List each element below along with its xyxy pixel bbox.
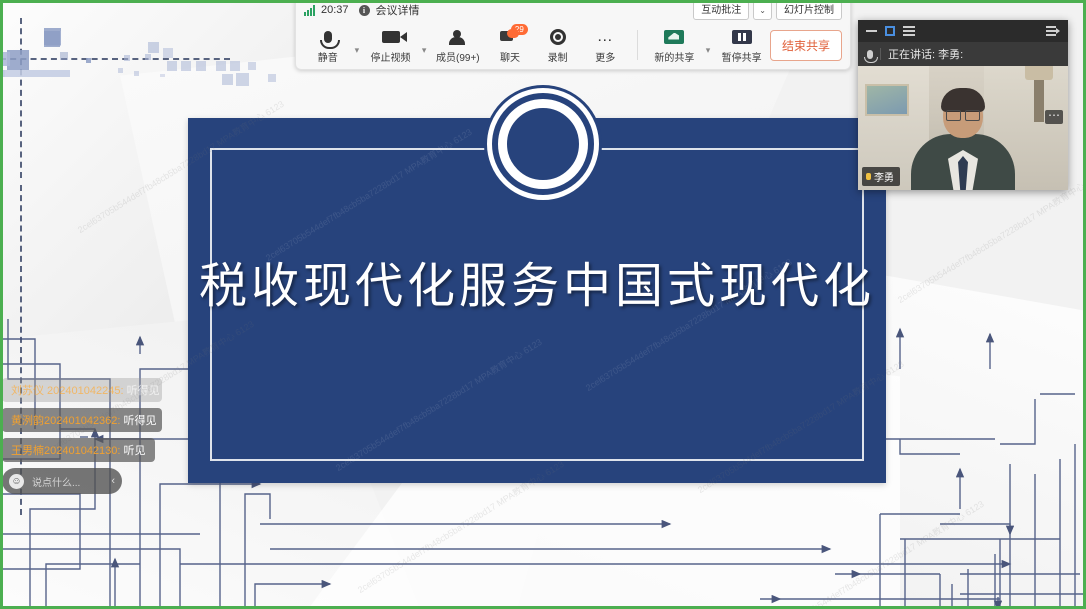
decor-square xyxy=(124,55,130,61)
video-more-options[interactable]: ⋯ xyxy=(1045,110,1063,124)
people-icon xyxy=(447,27,469,47)
mute-button-label: 静音 xyxy=(318,49,338,64)
chat-message: 王男楠202401042130: 听见 xyxy=(2,438,155,462)
meeting-timer: 20:37 xyxy=(321,4,349,16)
decor-square xyxy=(148,42,159,53)
toolbar-actions-row: 静音 ▾ 停止视频 ▾ 成员(99+) 29 聊天 录制 xyxy=(296,20,850,70)
participant-name: 李勇 xyxy=(874,169,894,184)
list-view-icon[interactable] xyxy=(903,26,915,36)
glasses-icon xyxy=(946,110,980,119)
decor-square xyxy=(236,73,249,86)
chat-icon xyxy=(499,27,521,47)
decor-square xyxy=(118,68,123,73)
decor-square xyxy=(248,62,256,70)
toolbar-status-row: 20:37 i 会议详情 互动批注 ⌄ 幻灯片控制 xyxy=(296,0,850,20)
ring-emblem-icon xyxy=(487,88,599,200)
chat-message: 刘苏仪 202401042245: 听得见 xyxy=(2,378,162,402)
chat-message-text: 听得见 xyxy=(124,415,157,427)
chat-button-label: 聊天 xyxy=(500,49,520,64)
decor-square xyxy=(181,61,191,71)
decor-square xyxy=(268,74,276,82)
chat-input[interactable]: ☺ 说点什么... ‹ xyxy=(2,468,122,494)
decor-square xyxy=(44,31,60,47)
signal-bars-icon xyxy=(304,5,315,16)
chat-overlay: 刘苏仪 202401042245: 听得见 黄洌韵202401042362: 听… xyxy=(0,378,230,494)
annotation-button[interactable]: 互动批注 xyxy=(693,1,749,20)
video-feed[interactable]: ⋯ 李勇 xyxy=(858,66,1068,190)
chat-message: 黄洌韵202401042362: 听得见 xyxy=(2,408,162,432)
annotation-caret-icon[interactable]: ⌄ xyxy=(753,1,772,20)
decor-square xyxy=(230,61,240,71)
pause-share-button[interactable]: 暂停共享 xyxy=(713,27,770,64)
expand-panel-icon[interactable] xyxy=(1046,26,1060,36)
wall-picture xyxy=(865,84,909,116)
minimize-icon[interactable] xyxy=(866,30,877,32)
chat-message-sender: 刘苏仪 202401042245: xyxy=(11,385,124,397)
emoji-icon[interactable]: ☺ xyxy=(9,474,24,489)
decor-square xyxy=(163,48,173,58)
participants-button-label: 成员(99+) xyxy=(436,49,480,64)
record-button[interactable]: 录制 xyxy=(534,27,582,64)
decor-square xyxy=(216,61,226,71)
decor-square xyxy=(0,52,10,66)
share-caret-icon[interactable]: ▾ xyxy=(703,45,714,56)
microphone-icon xyxy=(866,173,871,180)
active-speaker-bar: 正在讲话: 李勇: xyxy=(858,42,1068,66)
meeting-detail-label[interactable]: 会议详情 xyxy=(376,2,420,18)
microphone-icon xyxy=(867,50,873,59)
chat-message-sender: 黄洌韵202401042362: xyxy=(11,415,120,427)
video-caret-icon[interactable]: ▾ xyxy=(419,45,430,56)
participant-name-badge: 李勇 xyxy=(862,167,900,186)
decor-square xyxy=(134,71,139,76)
maximize-icon[interactable] xyxy=(885,26,895,36)
active-speaker-label: 正在讲话: 李勇: xyxy=(888,46,963,62)
chat-message-text: 听见 xyxy=(124,445,146,457)
end-share-button[interactable]: 结束共享 xyxy=(770,30,842,61)
dashed-line-vertical xyxy=(20,18,22,178)
chat-button[interactable]: 29 聊天 xyxy=(486,27,534,64)
more-button-label: 更多 xyxy=(595,49,615,64)
decor-square xyxy=(196,61,206,71)
chat-input-placeholder: 说点什么... xyxy=(32,474,103,489)
decor-square xyxy=(160,74,165,77)
decor-square xyxy=(60,52,68,60)
decor-square xyxy=(0,70,70,77)
chat-message-text: 听得见 xyxy=(127,385,160,397)
record-icon xyxy=(547,27,569,47)
floor-lamp xyxy=(1034,76,1044,122)
decor-square xyxy=(0,70,5,77)
dashed-line-horizontal xyxy=(0,58,230,60)
new-share-button[interactable]: 新的共享 xyxy=(646,27,703,64)
new-share-button-label: 新的共享 xyxy=(654,49,694,64)
toolbar-divider xyxy=(637,30,638,60)
video-panel-titlebar xyxy=(858,20,1068,42)
chat-collapse-icon[interactable]: ‹ xyxy=(111,475,115,487)
decor-square xyxy=(167,61,177,71)
slide-control-button[interactable]: 幻灯片控制 xyxy=(776,1,842,20)
pause-share-button-label: 暂停共享 xyxy=(722,49,762,64)
chat-message-sender: 王男楠202401042130: xyxy=(11,445,120,457)
stop-video-button-label: 停止视频 xyxy=(371,49,411,64)
participants-button[interactable]: 成员(99+) xyxy=(429,27,486,64)
meeting-toolbar: 20:37 i 会议详情 互动批注 ⌄ 幻灯片控制 静音 ▾ 停止视频 ▾ 成 xyxy=(295,0,851,70)
mute-button[interactable]: 静音 xyxy=(304,27,352,64)
decor-square xyxy=(222,74,233,85)
decor-square xyxy=(7,50,29,70)
microphone-icon xyxy=(317,27,339,47)
stop-video-button[interactable]: 停止视频 xyxy=(362,27,419,64)
record-button-label: 录制 xyxy=(548,49,568,64)
info-icon[interactable]: i xyxy=(359,5,370,16)
mute-caret-icon[interactable]: ▾ xyxy=(352,45,363,56)
more-button[interactable]: … 更多 xyxy=(581,27,629,64)
more-icon: … xyxy=(594,27,616,47)
screen-share-icon xyxy=(663,27,685,47)
camera-icon xyxy=(380,27,402,47)
slide-title: 税收现代化服务中国式现代化 xyxy=(188,246,886,316)
screen-share-view: 2cel63705b544def7fb48cb5ba7228bd17 MPA教育… xyxy=(0,0,1086,609)
speaker-video-panel: 正在讲话: 李勇: ⋯ 李勇 xyxy=(858,20,1068,190)
pause-share-icon xyxy=(731,27,753,47)
decor-square xyxy=(86,58,91,63)
decor-square xyxy=(145,54,151,60)
